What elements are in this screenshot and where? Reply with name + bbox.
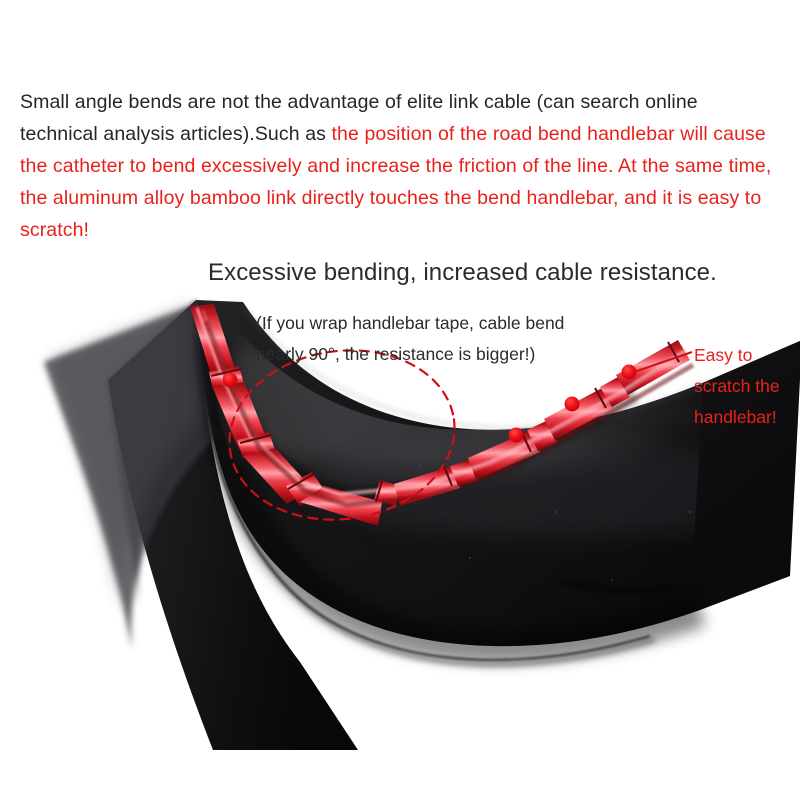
scratch-callout-line-3: handlebar! bbox=[694, 402, 800, 433]
bend-note-line-2: nearly 90°, the resistance is bigger!) bbox=[256, 339, 616, 370]
bend-note: (If you wrap handlebar tape, cable bend … bbox=[256, 308, 616, 370]
bend-note-line-1: (If you wrap handlebar tape, cable bend bbox=[256, 308, 616, 339]
intro-paragraph: Small angle bends are not the advantage … bbox=[20, 86, 780, 246]
scratch-callout-line-2: scratch the bbox=[694, 371, 800, 402]
scratch-callout-line-1: Easy to bbox=[694, 340, 800, 371]
illustration-stage: Small angle bends are not the advantage … bbox=[0, 0, 800, 800]
scratch-callout: Easy to scratch the handlebar! bbox=[694, 340, 800, 433]
